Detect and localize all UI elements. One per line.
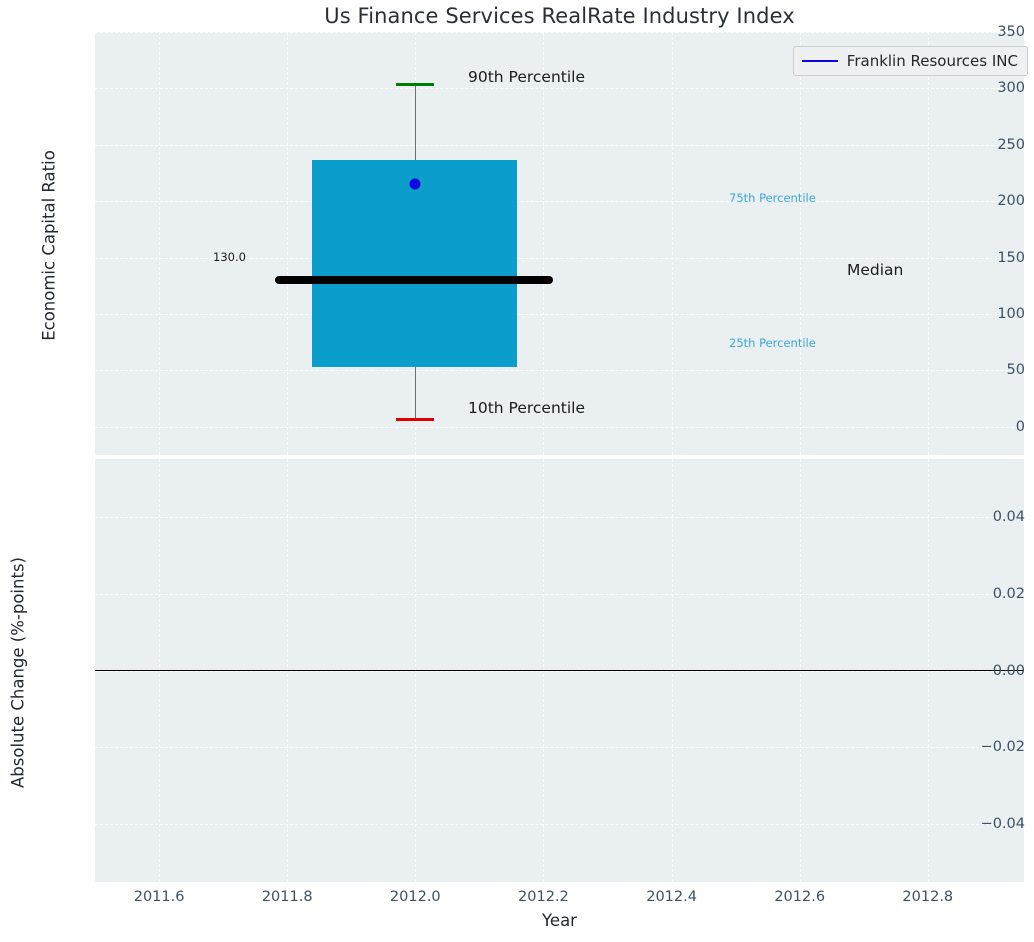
gridline-y-200 — [95, 201, 1024, 202]
xtick-2011.6: 2011.6 — [134, 889, 185, 905]
xtick-2012.6: 2012.6 — [774, 889, 825, 905]
p10-cap — [396, 418, 434, 421]
gridline-y--0.04 — [95, 824, 1024, 825]
gridline-y-0.04 — [95, 517, 1024, 518]
median-annotation: Median — [847, 261, 903, 279]
xtick-2012.8: 2012.8 — [902, 889, 953, 905]
legend-line-swatch — [802, 60, 838, 62]
ytick-200: 200 — [948, 193, 1034, 209]
gridline-x-2011.8 — [287, 32, 288, 455]
ytick-0.00: 0.00 — [948, 663, 1034, 679]
ytick-0.04: 0.04 — [948, 509, 1034, 525]
gridline-y-350 — [95, 32, 1024, 33]
ytick-250: 250 — [948, 137, 1034, 153]
x-axis-label: Year — [95, 911, 1024, 930]
gridline-y-0.02 — [95, 594, 1024, 595]
gridline-y-100 — [95, 314, 1024, 315]
ytick-0: 0 — [948, 419, 1034, 435]
p10-annotation: 10th Percentile — [468, 399, 585, 417]
ytick-50: 50 — [948, 362, 1034, 378]
y-axis-label-top: Economic Capital Ratio — [40, 36, 59, 456]
xtick-2012.2: 2012.2 — [518, 889, 569, 905]
gridline-x-2012.4 — [672, 32, 673, 455]
plot-area-economic-capital-ratio: 90th Percentile 75th Percentile Median 2… — [95, 32, 1024, 455]
p75-annotation: 75th Percentile — [729, 191, 816, 205]
gridline-y-0 — [95, 427, 1024, 428]
ytick-0.02: 0.02 — [948, 586, 1034, 602]
y-axis-label-bottom: Absolute Change (%-points) — [9, 463, 28, 883]
box-interquartile-range — [312, 160, 517, 368]
gridline-x-2012.8 — [928, 32, 929, 455]
median-value-label: 130.0 — [213, 250, 246, 264]
chart-figure: Us Finance Services RealRate Industry In… — [0, 0, 1034, 942]
gridline-y--0.02 — [95, 747, 1024, 748]
p90-annotation: 90th Percentile — [468, 68, 585, 86]
gridline-x-2011.6 — [159, 32, 160, 455]
ytick-100: 100 — [948, 306, 1034, 322]
xtick-2012.4: 2012.4 — [646, 889, 697, 905]
gridline-y-50 — [95, 370, 1024, 371]
ytick-neg-0.02: −0.02 — [948, 739, 1034, 755]
ytick-neg-0.04: −0.04 — [948, 816, 1034, 832]
gridline-y-300 — [95, 88, 1024, 89]
ytick-350: 350 — [948, 24, 1034, 40]
ytick-150: 150 — [948, 250, 1034, 266]
xtick-2011.8: 2011.8 — [262, 889, 313, 905]
gridline-y-250 — [95, 145, 1024, 146]
legend[interactable]: Franklin Resources INC — [793, 46, 1028, 76]
p25-annotation: 25th Percentile — [729, 336, 816, 350]
p90-cap — [396, 83, 434, 86]
legend-item-label: Franklin Resources INC — [847, 52, 1018, 70]
median-line — [275, 276, 553, 285]
plot-area-absolute-change — [95, 459, 1024, 882]
ytick-300: 300 — [948, 80, 1034, 96]
gridline-x-2012.6 — [800, 32, 801, 455]
xtick-2012.0: 2012.0 — [390, 889, 441, 905]
zero-reference-line — [95, 670, 1024, 672]
chart-title: Us Finance Services RealRate Industry In… — [95, 4, 1024, 28]
company-data-point[interactable] — [410, 179, 421, 190]
gridline-x-2012.2 — [543, 32, 544, 455]
